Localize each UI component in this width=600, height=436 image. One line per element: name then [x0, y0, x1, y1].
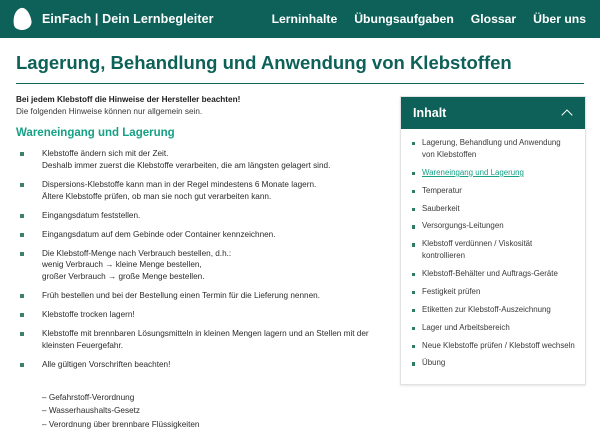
brand-group[interactable]: EinFach | Dein Lernbegleiter — [12, 6, 214, 32]
toc-item-etiketten[interactable]: Etiketten zur Klebstoff-Auszeichnung — [411, 304, 575, 316]
toc-link[interactable]: Klebstoff verdünnen / Viskosität kontrol… — [422, 239, 532, 260]
regulations-list: – Gefahrstoff-Verordnung – Wasserhaushal… — [16, 391, 390, 432]
toc-link[interactable]: Wareneingang und Lagerung — [422, 168, 524, 177]
list-item-line: Eingangsdatum feststellen. — [42, 210, 390, 222]
toc-header[interactable]: Inhalt — [401, 97, 585, 129]
list-item-line: Früh bestellen und bei der Bestellung ei… — [42, 290, 390, 302]
bullet-list: Klebstoffe ändern sich mit der Zeit. Des… — [16, 148, 390, 370]
list-item: Klebstoffe mit brennbaren Lösungsmitteln… — [16, 328, 390, 352]
page-title-area: Lagerung, Behandlung und Anwendung von K… — [0, 38, 600, 84]
toc-item-temperatur[interactable]: Temperatur — [411, 185, 575, 197]
list-item-line: Klebstoffe ändern sich mit der Zeit. — [42, 148, 390, 160]
nav-link-lerninhalte[interactable]: Lerninhalte — [272, 12, 338, 26]
toc-link[interactable]: Lagerung, Behandlung und Anwendung von K… — [422, 138, 561, 159]
list-item: Eingangsdatum auf dem Gebinde oder Conta… — [16, 229, 390, 241]
nav-link-ueber-uns[interactable]: Über uns — [533, 12, 586, 26]
list-item-line: kleinsten Feuergefahr. — [42, 340, 390, 352]
table-of-contents-panel: Inhalt Lagerung, Behandlung und Anwendun… — [400, 96, 586, 385]
brand-title: EinFach | Dein Lernbegleiter — [42, 12, 214, 26]
regulation-item: – Wasserhaushalts-Gesetz — [42, 404, 390, 418]
toc-link[interactable]: Neue Klebstoffe prüfen / Klebstoff wechs… — [422, 341, 575, 350]
list-item: Klebstoffe trocken lagern! — [16, 309, 390, 321]
list-item-line: Die Klebstoff-Menge nach Verbrauch beste… — [42, 248, 390, 260]
list-item-line: Klebstoffe trocken lagern! — [42, 309, 390, 321]
list-item-line: Ältere Klebstoffe prüfen, ob man sie noc… — [42, 191, 390, 203]
toc-link[interactable]: Temperatur — [422, 186, 462, 195]
list-item-line: wenig Verbrauch → kleine Menge bestellen… — [42, 259, 390, 271]
list-item: Früh bestellen und bei der Bestellung ei… — [16, 290, 390, 302]
toc-link[interactable]: Versorgungs-Leitungen — [422, 221, 504, 230]
content-row: Bei jedem Klebstoff die Hinweise der Her… — [0, 84, 600, 436]
list-item-line: Alle gültigen Vorschriften beachten! — [42, 359, 390, 371]
toc-link[interactable]: Übung — [422, 358, 445, 367]
toc-link[interactable]: Sauberkeit — [422, 204, 460, 213]
lead-strong-text: Bei jedem Klebstoff die Hinweise der Her… — [16, 95, 390, 104]
toc-item-klebstoff-behaelter[interactable]: Klebstoff-Behälter und Auftrags-Geräte — [411, 268, 575, 280]
list-item-line: Dispersions-Klebstoffe kann man in der R… — [42, 179, 390, 191]
toc-item-lager-und-arbeitsbereich[interactable]: Lager und Arbeitsbereich — [411, 322, 575, 334]
toc-item-sauberkeit[interactable]: Sauberkeit — [411, 203, 575, 215]
water-drop-icon — [12, 6, 32, 32]
list-item: Die Klebstoff-Menge nach Verbrauch beste… — [16, 248, 390, 284]
top-navigation-bar: EinFach | Dein Lernbegleiter Lerninhalte… — [0, 0, 600, 38]
regulation-item: – Verordnung über brennbare Flüssigkeite… — [42, 418, 390, 432]
toc-link[interactable]: Festigkeit prüfen — [422, 287, 480, 296]
list-item: Alle gültigen Vorschriften beachten! — [16, 359, 390, 371]
chevron-up-icon[interactable] — [562, 108, 573, 119]
toc-item-versorgungs-leitungen[interactable]: Versorgungs-Leitungen — [411, 220, 575, 232]
section-heading: Wareneingang und Lagerung — [16, 127, 390, 139]
article-content: Bei jedem Klebstoff die Hinweise der Her… — [16, 84, 390, 436]
toc-item-wareneingang-und-lagerung[interactable]: Wareneingang und Lagerung — [411, 167, 575, 179]
list-item: Eingangsdatum feststellen. — [16, 210, 390, 222]
regulation-item: – Gefahrstoff-Verordnung — [42, 391, 390, 405]
list-item-line: Deshalb immer zuerst die Klebstoffe vera… — [42, 160, 390, 172]
toc-item-festigkeit-pruefen[interactable]: Festigkeit prüfen — [411, 286, 575, 298]
list-item-line: Klebstoffe mit brennbaren Lösungsmitteln… — [42, 328, 390, 340]
toc-list: Lagerung, Behandlung und Anwendung von K… — [411, 137, 575, 369]
list-item-line: Eingangsdatum auf dem Gebinde oder Conta… — [42, 229, 390, 241]
list-item: Dispersions-Klebstoffe kann man in der R… — [16, 179, 390, 203]
toc-item-uebung[interactable]: Übung — [411, 357, 575, 369]
main-nav: Lerninhalte Übungsaufgaben Glossar Über … — [272, 12, 586, 26]
toc-link[interactable]: Klebstoff-Behälter und Auftrags-Geräte — [422, 269, 558, 278]
toc-link[interactable]: Lager und Arbeitsbereich — [422, 323, 510, 332]
nav-link-uebungsaufgaben[interactable]: Übungsaufgaben — [354, 12, 454, 26]
toc-link[interactable]: Etiketten zur Klebstoff-Auszeichnung — [422, 305, 551, 314]
page-title: Lagerung, Behandlung und Anwendung von K… — [16, 52, 584, 74]
nav-link-glossar[interactable]: Glossar — [471, 12, 516, 26]
toc-title: Inhalt — [413, 106, 446, 120]
toc-item-lagerung-behandlung[interactable]: Lagerung, Behandlung und Anwendung von K… — [411, 137, 575, 161]
list-item: Klebstoffe ändern sich mit der Zeit. Des… — [16, 148, 390, 172]
list-item-line: großer Verbrauch → große Menge bestellen… — [42, 271, 390, 283]
toc-body: Lagerung, Behandlung und Anwendung von K… — [401, 129, 585, 384]
lead-text: Die folgenden Hinweise können nur allgem… — [16, 107, 390, 116]
toc-item-klebstoff-verduennen[interactable]: Klebstoff verdünnen / Viskosität kontrol… — [411, 238, 575, 262]
toc-item-neue-klebstoffe-pruefen[interactable]: Neue Klebstoffe prüfen / Klebstoff wechs… — [411, 340, 575, 352]
